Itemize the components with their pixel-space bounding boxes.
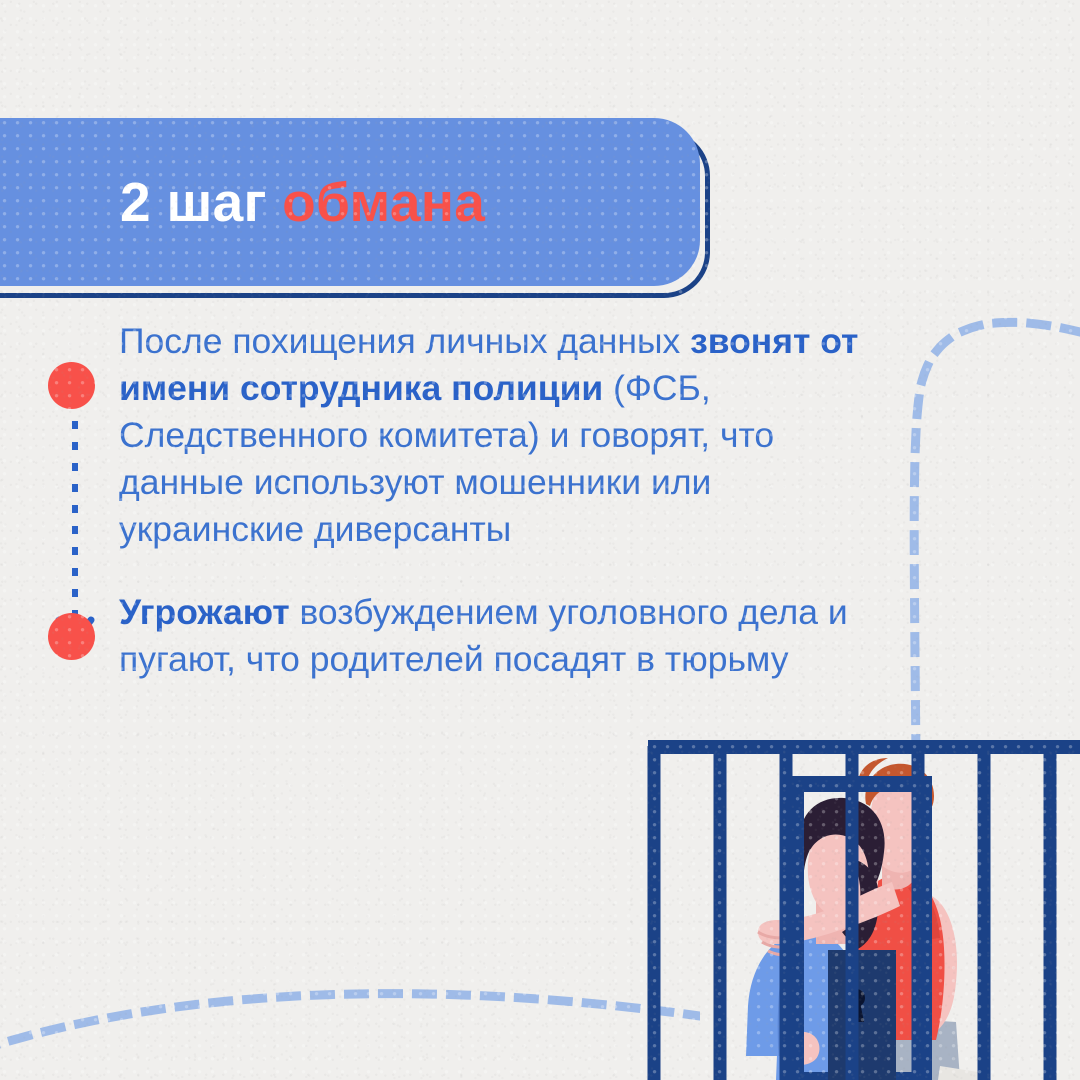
list-item: После похищения личных данных звонят от … <box>0 318 900 553</box>
jail-top-rail <box>648 740 1080 754</box>
title-highlight-label: обмана <box>282 170 485 234</box>
bullet-text: После похищения личных данных звонят от … <box>119 318 879 553</box>
jail-bars <box>654 746 1050 1080</box>
bullet-text: Угрожают возбуждением уголовного дела и … <box>119 589 879 683</box>
bullet-dot-icon <box>48 613 95 660</box>
bullet-list: После похищения личных данных звонят от … <box>0 318 900 683</box>
bullet-1-seg-0: После похищения личных данных <box>119 321 690 361</box>
header-banner: 2 шагобмана <box>0 118 730 298</box>
bullet-2-seg-0: Угрожают <box>119 592 290 632</box>
curve-bottom-icon <box>0 920 700 1070</box>
jail-illustration <box>600 700 1080 1080</box>
page-title: 2 шагобмана <box>0 118 700 286</box>
title-step-label: 2 шаг <box>120 170 267 234</box>
list-item: Угрожают возбуждением уголовного дела и … <box>0 589 900 683</box>
bullet-dot-icon <box>48 362 95 409</box>
poster-canvas: 2 шагобмана После похищения личных данны… <box>0 0 1080 1080</box>
